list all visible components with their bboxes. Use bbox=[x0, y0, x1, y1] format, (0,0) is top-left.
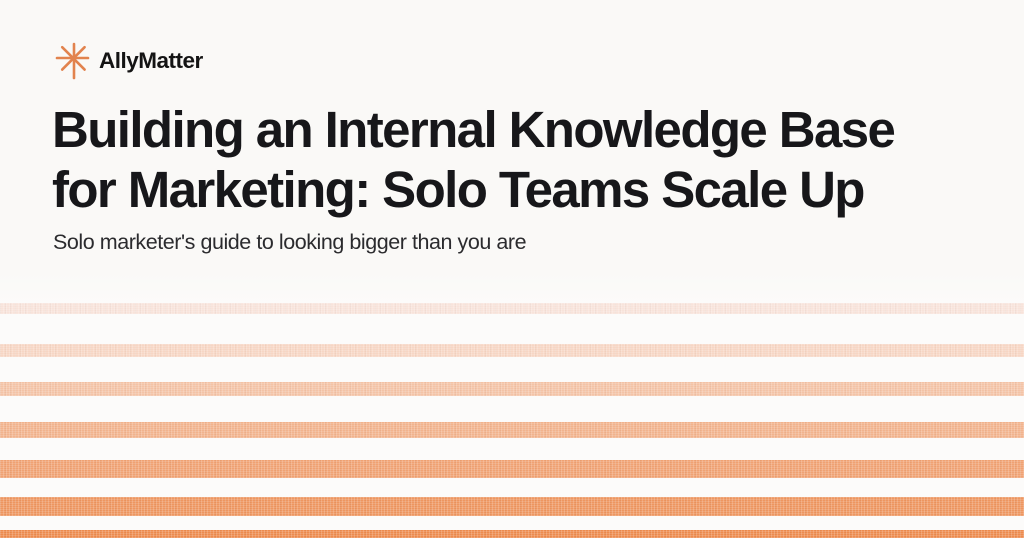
stripe-7 bbox=[0, 530, 1024, 538]
hero-header-region: AllyMatter Building an Internal Knowledg… bbox=[0, 0, 1024, 272]
asterisk-starburst-icon bbox=[52, 41, 90, 81]
page-title: Building an Internal Knowledge Base for … bbox=[52, 100, 952, 219]
hero-banner: AllyMatter Building an Internal Knowledg… bbox=[0, 0, 1024, 538]
brand-lockup: AllyMatter bbox=[52, 40, 203, 82]
page-title-line-2: for Marketing: Solo Teams Scale Up bbox=[52, 160, 952, 220]
stripe-band-fade bbox=[0, 272, 1024, 306]
stripe-6 bbox=[0, 497, 1024, 516]
stripe-4 bbox=[0, 422, 1024, 438]
page-title-line-1: Building an Internal Knowledge Base bbox=[52, 100, 952, 160]
stripe-2 bbox=[0, 344, 1024, 357]
decorative-stripe-band bbox=[0, 272, 1024, 538]
stripe-5 bbox=[0, 460, 1024, 478]
stripe-3 bbox=[0, 382, 1024, 396]
stripe-1 bbox=[0, 303, 1024, 314]
page-subtitle: Solo marketer's guide to looking bigger … bbox=[53, 229, 526, 257]
brand-name: AllyMatter bbox=[99, 50, 203, 73]
